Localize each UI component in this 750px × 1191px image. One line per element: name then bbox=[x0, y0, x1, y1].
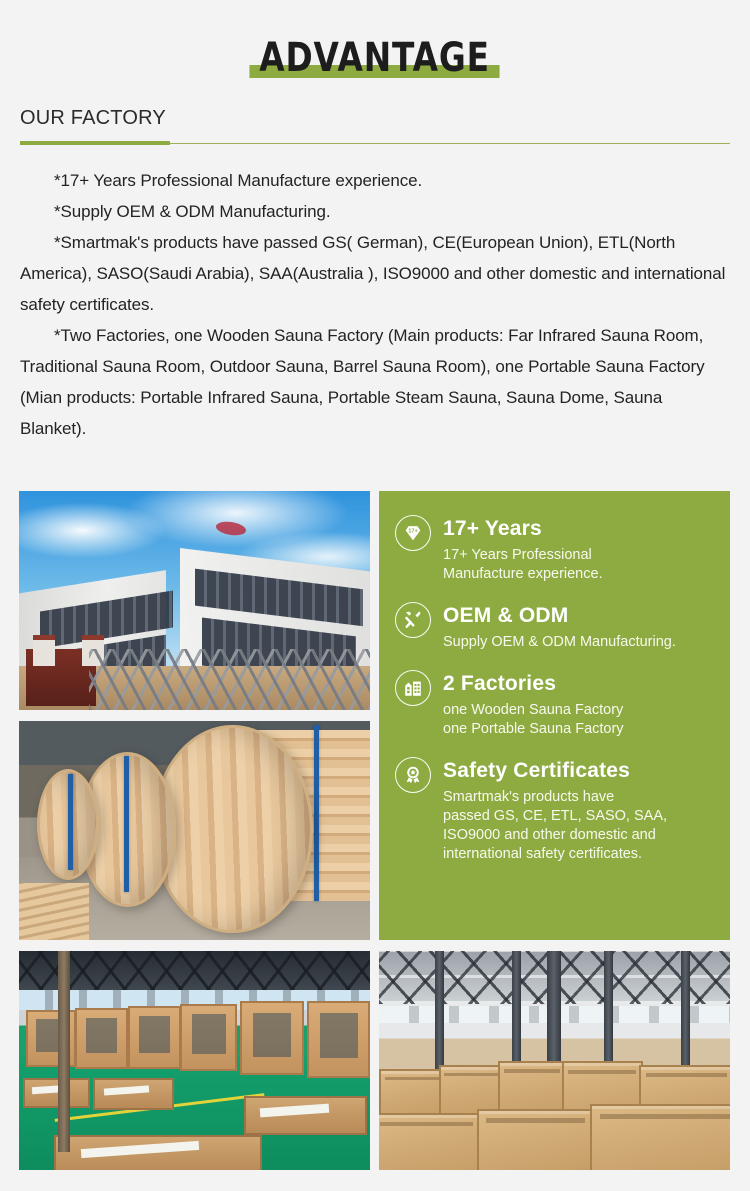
copy-line-4: *Two Factories, one Wooden Sauna Factory… bbox=[20, 320, 730, 444]
page-title: ADVANTAGE bbox=[255, 36, 495, 80]
svg-text:17+: 17+ bbox=[408, 528, 418, 534]
feature-desc: Smartmak's products have passed GS, CE, … bbox=[443, 788, 667, 864]
grid-row-bottom bbox=[19, 951, 731, 1170]
feature-title: Safety Certificates bbox=[443, 759, 667, 783]
factory-buildings-icon bbox=[395, 670, 431, 706]
section-header: OUR FACTORY bbox=[20, 107, 750, 130]
copy-line-2: *Supply OEM & ODM Manufacturing. bbox=[20, 196, 730, 227]
copy-line-3: *Smartmak's products have passed GS( Ger… bbox=[20, 227, 730, 320]
feature-desc: Supply OEM & ODM Manufacturing. bbox=[443, 633, 676, 652]
barrel-sauna-photo bbox=[19, 721, 370, 940]
sauna-assembly-photo bbox=[19, 951, 370, 1170]
crate-warehouse-photo bbox=[379, 951, 730, 1170]
feature-title: 2 Factories bbox=[443, 672, 624, 696]
award-medal-icon bbox=[395, 757, 431, 793]
grid-row-top: 17+ 17+ Years 17+ Years Professional Man… bbox=[19, 491, 731, 940]
divider-thick-accent bbox=[20, 141, 170, 145]
feature-title: OEM & ODM bbox=[443, 604, 676, 628]
copy-line-1: *17+ Years Professional Manufacture expe… bbox=[20, 165, 730, 196]
hammer-screwdriver-icon bbox=[395, 602, 431, 638]
advantages-panel: 17+ 17+ Years 17+ Years Professional Man… bbox=[379, 491, 730, 940]
page-title-text: ADVANTAGE bbox=[260, 35, 491, 81]
feature-item-oem-odm: OEM & ODM Supply OEM & ODM Manufacturing… bbox=[395, 600, 714, 652]
page-title-wrap: ADVANTAGE bbox=[0, 0, 750, 80]
feature-desc: one Wooden Sauna Factory one Portable Sa… bbox=[443, 701, 624, 739]
media-grid: 17+ 17+ Years 17+ Years Professional Man… bbox=[19, 491, 731, 1170]
feature-item-17-years: 17+ 17+ Years 17+ Years Professional Man… bbox=[395, 513, 714, 584]
body-copy: *17+ Years Professional Manufacture expe… bbox=[20, 165, 730, 444]
diamond-17-plus-icon: 17+ bbox=[395, 515, 431, 551]
factory-exterior-photo bbox=[19, 491, 370, 710]
feature-item-safety-certificates: Safety Certificates Smartmak's products … bbox=[395, 755, 714, 864]
feature-item-2-factories: 2 Factories one Wooden Sauna Factory one… bbox=[395, 668, 714, 739]
section-divider bbox=[20, 141, 730, 145]
feature-title: 17+ Years bbox=[443, 517, 603, 541]
feature-desc: 17+ Years Professional Manufacture exper… bbox=[443, 546, 603, 584]
